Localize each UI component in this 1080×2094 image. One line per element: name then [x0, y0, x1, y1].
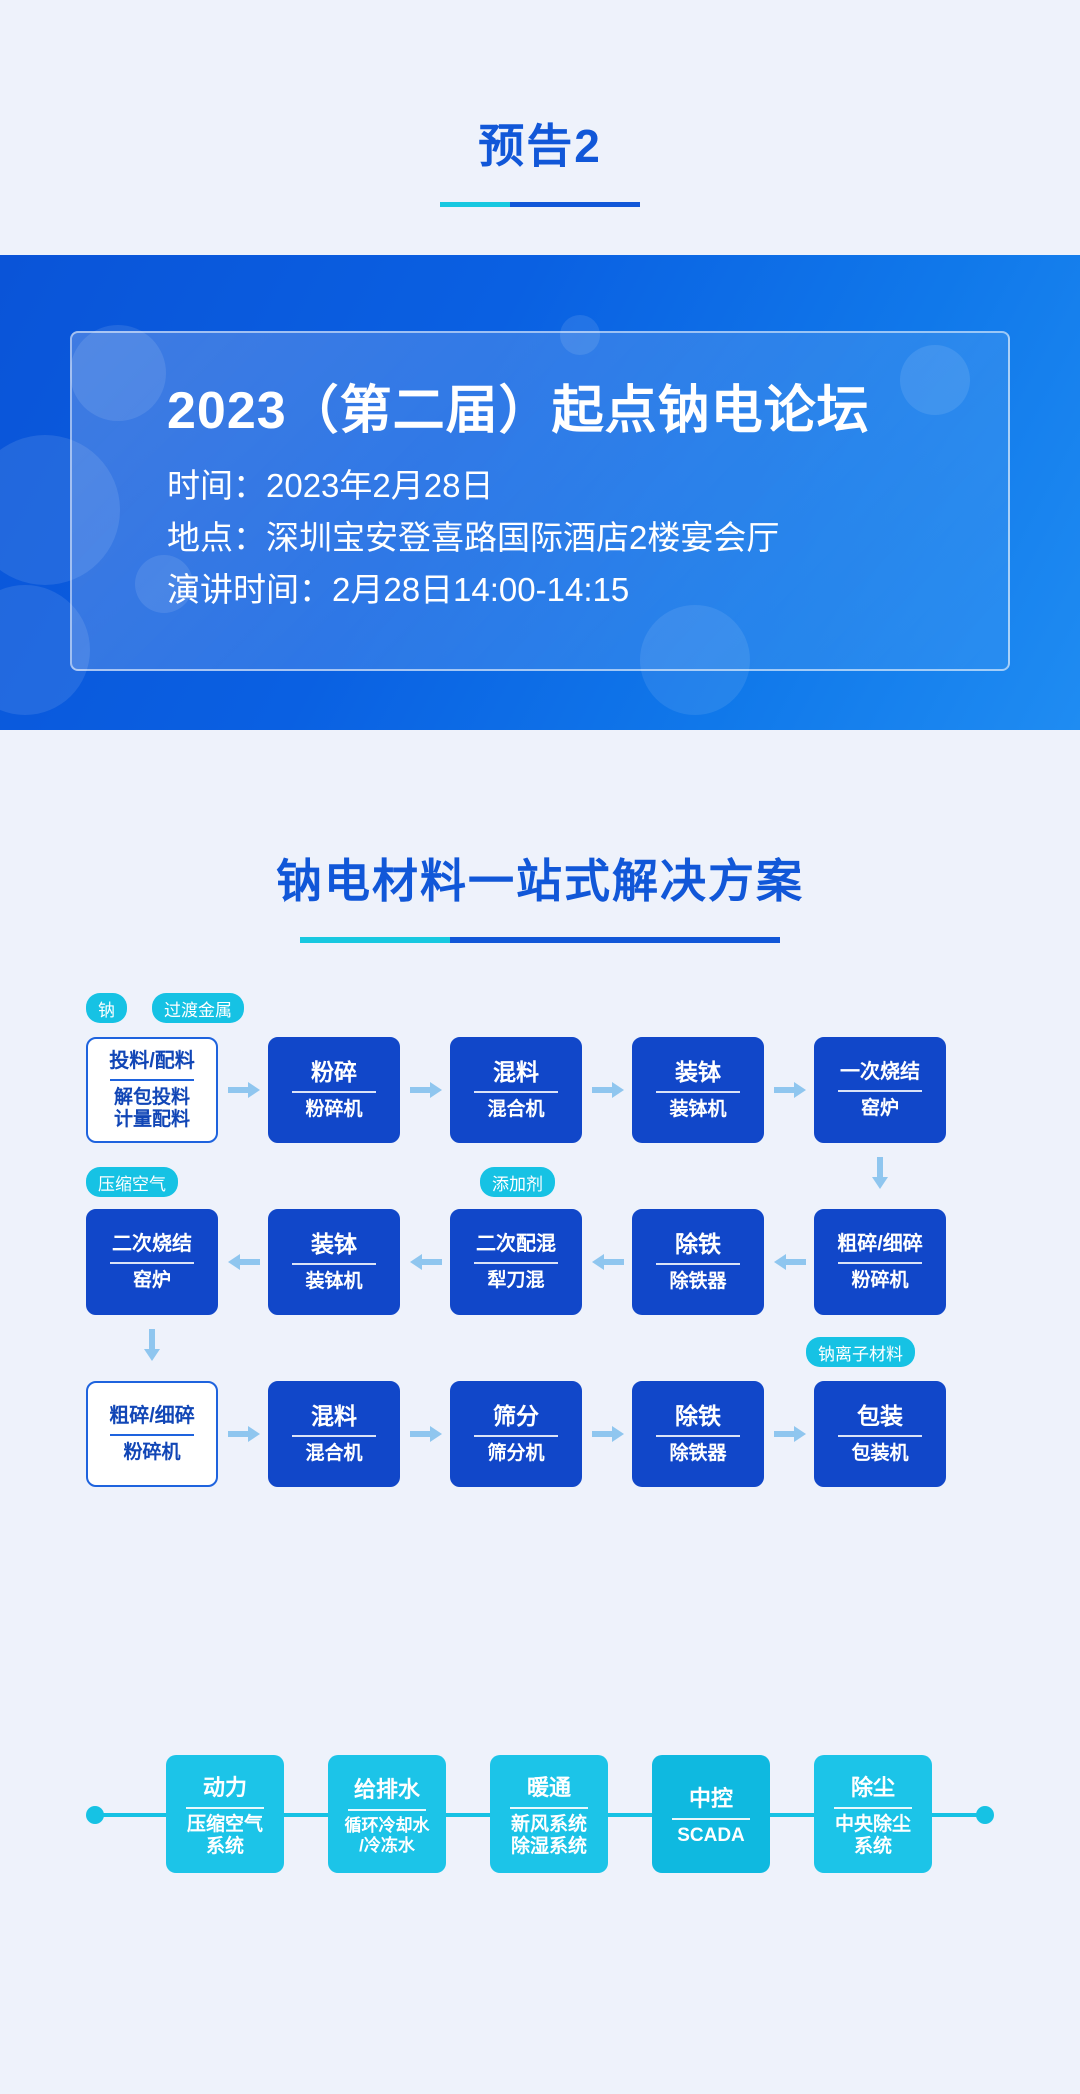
utility-divider: [510, 1807, 588, 1809]
node-coarse-fine-crush-1: 粗碎/细碎 粉碎机: [814, 1209, 946, 1315]
event-location: 地点：深圳宝安登喜路国际酒店2楼宴会厅: [167, 514, 1008, 562]
node-sub: 粉碎机: [851, 1270, 908, 1292]
node-second-blending: 二次配混 犁刀混: [450, 1209, 582, 1315]
node-title: 除铁: [675, 1403, 721, 1429]
node-title: 二次配混: [476, 1233, 556, 1256]
node-sub: 装钵机: [669, 1099, 726, 1121]
title-underline: [440, 202, 640, 207]
arrow-down-icon: [144, 1329, 160, 1361]
utility-sub-2: 系统: [854, 1836, 892, 1858]
event-talk-time: 演讲时间：2月28日14:00-14:15: [167, 566, 1008, 614]
node-sub: 混合机: [305, 1443, 362, 1465]
node-sub: 犁刀混: [487, 1270, 544, 1292]
node-divider: [838, 1435, 922, 1437]
page-title: 预告2: [478, 110, 602, 176]
node-divider: [110, 1434, 194, 1436]
utility-title: 动力: [203, 1770, 247, 1802]
node-title: 粉碎: [311, 1059, 357, 1085]
page-header: 预告2: [0, 0, 1080, 255]
node-sub: 窑炉: [861, 1098, 899, 1120]
arrow-right-icon: [228, 1426, 260, 1442]
node-sub: 混合机: [487, 1099, 544, 1121]
node-saggar-loading-2: 装钵 装钵机: [268, 1209, 400, 1315]
node-mixing-1: 混料 混合机: [450, 1037, 582, 1143]
node-mixing-2: 混料 混合机: [268, 1381, 400, 1487]
utility-water: 给排水 循环冷却水 /冷冻水: [328, 1755, 446, 1873]
node-crushing: 粉碎 粉碎机: [268, 1037, 400, 1143]
node-sub: 粉碎机: [305, 1099, 362, 1121]
node-divider: [292, 1435, 376, 1437]
utility-divider: [672, 1818, 750, 1820]
utility-sub-2: 除湿系统: [511, 1836, 587, 1858]
utility-title: 除尘: [851, 1770, 895, 1802]
utility-sub-1: 中央除尘: [835, 1814, 911, 1836]
node-sub: 窑炉: [133, 1270, 171, 1292]
node-title: 混料: [311, 1403, 357, 1429]
utility-sub-1: 新风系统: [511, 1814, 587, 1836]
utility-sub-1: SCADA: [677, 1825, 745, 1847]
arrow-down-icon: [872, 1157, 888, 1189]
underline-main: [510, 202, 640, 207]
node-sub: 包装机: [851, 1443, 908, 1465]
section-underline: [300, 937, 780, 943]
event-banner: 2023（第二届）起点钠电论坛 时间：2023年2月28日 地点：深圳宝安登喜路…: [0, 255, 1080, 730]
node-divider: [110, 1079, 194, 1081]
node-sub: 筛分机: [487, 1443, 544, 1465]
event-time: 时间：2023年2月28日: [167, 462, 1008, 510]
tag-sodium-ion-material: 钠离子材料: [806, 1337, 915, 1367]
node-sub-1: 解包投料: [114, 1087, 190, 1109]
node-divider: [656, 1263, 740, 1265]
node-feeding: 投料/配料 解包投料 计量配料: [86, 1037, 218, 1143]
node-iron-removal-1: 除铁 除铁器: [632, 1209, 764, 1315]
tag-compressed-air: 压缩空气: [86, 1167, 178, 1197]
node-divider: [474, 1091, 558, 1093]
event-heading: 2023（第二届）起点钠电论坛: [167, 383, 1008, 440]
arrow-right-icon: [592, 1082, 624, 1098]
node-title: 一次烧结: [840, 1061, 920, 1084]
utility-divider: [348, 1809, 426, 1811]
utility-title: 暖通: [527, 1770, 571, 1802]
node-divider: [838, 1090, 922, 1092]
node-title: 二次烧结: [112, 1233, 192, 1256]
node-divider: [292, 1263, 376, 1265]
tag-sodium: 钠: [86, 993, 127, 1023]
utility-endpoint-right: [976, 1806, 994, 1824]
node-divider: [110, 1262, 194, 1264]
arrow-right-icon: [774, 1082, 806, 1098]
tag-transition-metal: 过渡金属: [152, 993, 244, 1023]
utility-sub-2: /冷冻水: [359, 1836, 415, 1856]
node-divider: [292, 1091, 376, 1093]
arrow-right-icon: [228, 1082, 260, 1098]
node-divider: [474, 1435, 558, 1437]
arrow-left-icon: [410, 1254, 442, 1270]
underline-accent: [440, 202, 510, 207]
utility-sub-2: 系统: [206, 1836, 244, 1858]
node-second-sintering: 二次烧结 窑炉: [86, 1209, 218, 1315]
utility-dust-removal: 除尘 中央除尘 系统: [814, 1755, 932, 1873]
node-divider: [474, 1262, 558, 1264]
utility-central-control: 中控 SCADA: [652, 1755, 770, 1873]
utility-sub-1: 循环冷却水: [345, 1816, 430, 1836]
arrow-left-icon: [774, 1254, 806, 1270]
node-title: 包装: [857, 1403, 903, 1429]
utility-divider: [834, 1807, 912, 1809]
node-sub: 装钵机: [305, 1271, 362, 1293]
node-title: 混料: [493, 1059, 539, 1085]
node-title: 装钵: [675, 1059, 721, 1085]
node-sub: 粉碎机: [123, 1442, 180, 1464]
utility-sub-1: 压缩空气: [187, 1814, 263, 1836]
underline-accent: [300, 937, 450, 943]
node-sub-2: 计量配料: [114, 1109, 190, 1131]
node-title: 筛分: [493, 1403, 539, 1429]
section-title: 钠电材料一站式解决方案: [0, 845, 1080, 911]
solution-section: 钠电材料一站式解决方案: [0, 730, 1080, 943]
utility-hvac: 暖通 新风系统 除湿系统: [490, 1755, 608, 1873]
node-sub: 除铁器: [669, 1271, 726, 1293]
node-title: 粗碎/细碎: [837, 1233, 923, 1256]
arrow-right-icon: [410, 1426, 442, 1442]
node-title: 装钵: [311, 1231, 357, 1257]
utility-title: 中控: [689, 1781, 733, 1813]
arrow-right-icon: [410, 1082, 442, 1098]
node-first-sintering: 一次烧结 窑炉: [814, 1037, 946, 1143]
node-sub: 除铁器: [669, 1443, 726, 1465]
node-title: 投料/配料: [109, 1050, 195, 1073]
process-flow-diagram: 钠 过渡金属 投料/配料 解包投料 计量配料 粉碎 粉碎机 混料 混合机 装钵 …: [0, 981, 1080, 1681]
underline-main: [450, 937, 780, 943]
utility-title: 给排水: [354, 1772, 420, 1804]
utility-systems-bar: 动力 压缩空气 系统 给排水 循环冷却水 /冷冻水 暖通 新风系统 除湿系统 中…: [0, 1687, 1080, 1857]
node-iron-removal-2: 除铁 除铁器: [632, 1381, 764, 1487]
utility-power: 动力 压缩空气 系统: [166, 1755, 284, 1873]
node-screening: 筛分 筛分机: [450, 1381, 582, 1487]
utility-divider: [186, 1807, 264, 1809]
arrow-left-icon: [592, 1254, 624, 1270]
node-divider: [656, 1435, 740, 1437]
node-coarse-fine-crush-2: 粗碎/细碎 粉碎机: [86, 1381, 218, 1487]
node-title: 粗碎/细碎: [109, 1405, 195, 1428]
node-divider: [838, 1262, 922, 1264]
arrow-right-icon: [592, 1426, 624, 1442]
node-title: 除铁: [675, 1231, 721, 1257]
utility-endpoint-left: [86, 1806, 104, 1824]
node-packaging: 包装 包装机: [814, 1381, 946, 1487]
node-divider: [656, 1091, 740, 1093]
event-card: 2023（第二届）起点钠电论坛 时间：2023年2月28日 地点：深圳宝安登喜路…: [70, 331, 1010, 671]
tag-additive: 添加剂: [480, 1167, 555, 1197]
arrow-right-icon: [774, 1426, 806, 1442]
node-saggar-loading-1: 装钵 装钵机: [632, 1037, 764, 1143]
arrow-left-icon: [228, 1254, 260, 1270]
